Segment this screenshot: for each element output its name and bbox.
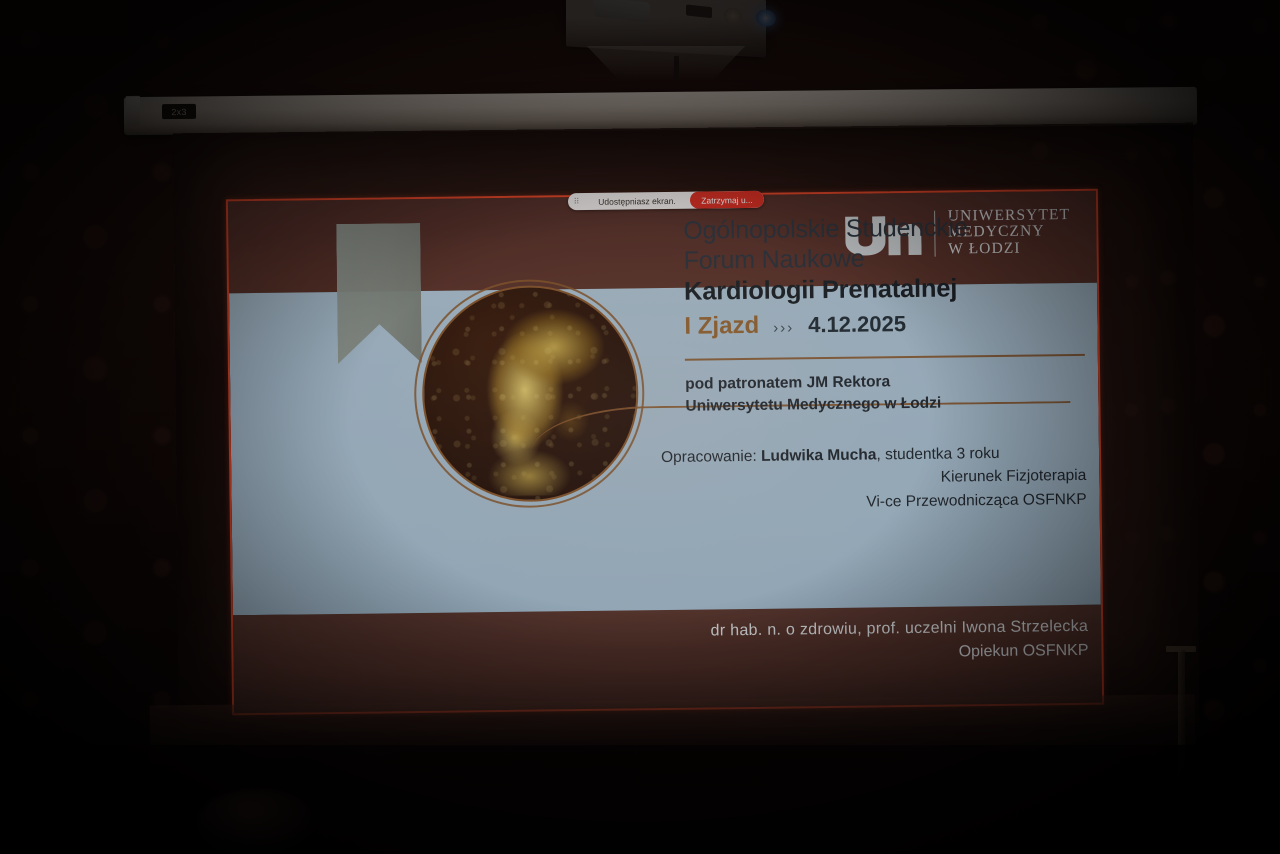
screen-brand-badge: 2x3 — [162, 104, 196, 119]
roller-end-cap — [126, 96, 140, 126]
foreground-object — [198, 790, 318, 854]
projector-lens — [594, 0, 650, 23]
dark-foreground — [0, 745, 1280, 854]
screenshot-stage: 2x3 UNIWERSYTET MEDYCZNY W ŁODZI — [0, 0, 1280, 854]
drag-handle-icon[interactable]: ⠿ — [568, 193, 584, 210]
screen-brand-label: 2x3 — [171, 106, 187, 116]
sharing-status-label: Udostępniasz ekran. — [584, 192, 690, 210]
stop-sharing-button[interactable]: Zatrzymaj u... — [690, 191, 764, 209]
screen-share-notification-bar[interactable]: ⠿ Udostępniasz ekran. Zatrzymaj u... — [568, 191, 764, 210]
projector-mount — [576, 46, 756, 80]
projector-focus-dial — [724, 7, 742, 24]
screen-share-border-frame — [226, 189, 1104, 716]
projector-power-led-icon — [756, 9, 776, 27]
projector — [556, 0, 788, 78]
projector-stand-pole — [674, 56, 679, 82]
projector-vent — [686, 4, 712, 18]
